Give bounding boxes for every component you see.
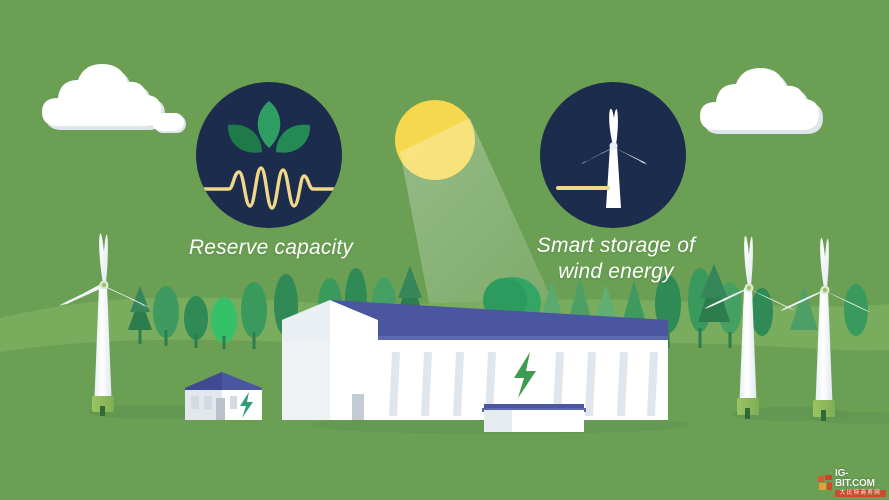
badge-accent-bar [556,186,610,190]
illustration-canvas: Reserve capacity Smart storage of wind e… [0,0,889,500]
cloud-small-left [152,113,186,133]
badge-reserve-capacity[interactable] [196,82,342,228]
site-watermark: IG-BIT.COM 大比特商务网 [818,472,886,494]
badge-smart-storage[interactable] [540,82,686,228]
warehouse-side-door [352,394,364,420]
watermark-logo-icon [818,475,833,491]
badge-label-reserve-capacity: Reserve capacity [176,235,366,261]
house-window-mid [204,396,212,409]
watermark-body: IG-BIT.COM 大比特商务网 [835,469,886,498]
badge-turbine-hub [610,142,618,150]
scene-graphic [0,0,889,500]
energy-storage-warehouse [282,300,668,432]
watermark-title: IG-BIT.COM [835,469,886,489]
watermark-subtitle: 大比特商务网 [835,490,886,498]
badge-label-smart-storage: Smart storage of wind energy [518,233,714,284]
house-door [216,398,225,420]
house-window-left [191,396,199,409]
house-window-right [230,396,237,409]
warehouse-annex [482,404,586,432]
